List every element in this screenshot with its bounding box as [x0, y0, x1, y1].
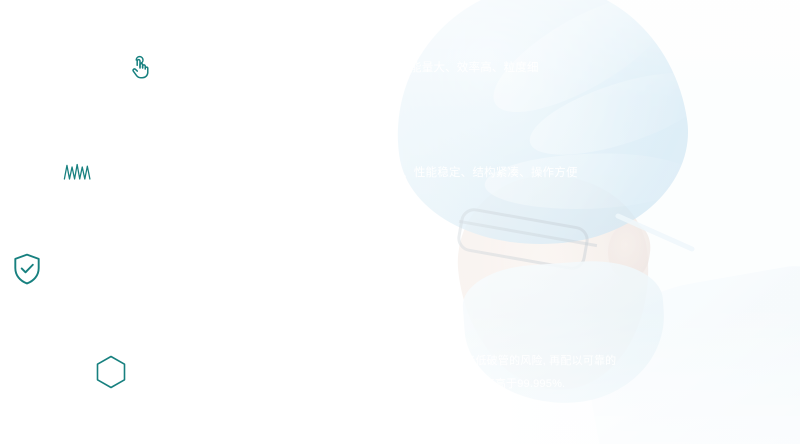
feature-description: 在减震技术上采用“双层减震结构”技术, 重心低、性能稳定、结构紧凑、操作方便	[165, 166, 578, 180]
feature-description-line: 压紧技术对于高强度的研磨工作, 能保证研磨管的完整度高于99.995%.	[220, 378, 617, 392]
feature-description-line: 固定研磨管的部分, 采用了“简便式试管压紧”技术, 降低破管的风险, 再配以可靠…	[220, 355, 617, 369]
feature-text: 减震 在减震技术上采用“双层减震结构”技术, 重心低、性能稳定、结构紧凑、操作方…	[122, 163, 578, 182]
feature-row[interactable]: 安全可靠 安全可靠、噪声低、无污染、损耗小	[8, 243, 698, 295]
feature-description: 采用行星式运动, 转速快、能量大、效率高、粒度细	[275, 61, 539, 75]
feature-title: 减震	[122, 163, 155, 182]
feature-list: 行星式运动 采用行星式运动, 转速快、能量大、效率高、粒度细 减震 在减震技术上…	[0, 0, 800, 444]
hexagon-icon	[76, 338, 146, 408]
feature-row[interactable]: 完整度 固定研磨管的部分, 采用了“简便式试管压紧”技术, 降低破管的风险, 再…	[88, 340, 708, 406]
feature-text: 完整度 固定研磨管的部分, 采用了“简便式试管压紧”技术, 降低破管的风险, 再…	[160, 355, 616, 392]
feature-description: 固定研磨管的部分, 采用了“简便式试管压紧”技术, 降低破管的风险, 再配以可靠…	[220, 355, 617, 392]
shield-check-icon	[0, 238, 58, 300]
feature-text: 安全可靠 安全可靠、噪声低、无污染、损耗小	[72, 259, 335, 278]
feature-description: 安全可靠、噪声低、无污染、损耗小	[148, 262, 335, 276]
feature-title: 完整度	[160, 363, 210, 382]
feature-title: 安全可靠	[72, 259, 138, 278]
feature-row[interactable]: 行星式运动 采用行星式运动, 转速快、能量大、效率高、粒度细	[120, 43, 680, 93]
feature-text: 行星式运动 采用行星式运动, 转速快、能量大、效率高、粒度细	[182, 58, 539, 77]
hand-touch-icon	[112, 40, 168, 96]
feature-row[interactable]: 减震 在减震技术上采用“双层减震结构”技术, 重心低、性能稳定、结构紧凑、操作方…	[58, 147, 698, 199]
feature-title: 行星式运动	[182, 58, 265, 77]
waveform-icon	[48, 143, 108, 203]
